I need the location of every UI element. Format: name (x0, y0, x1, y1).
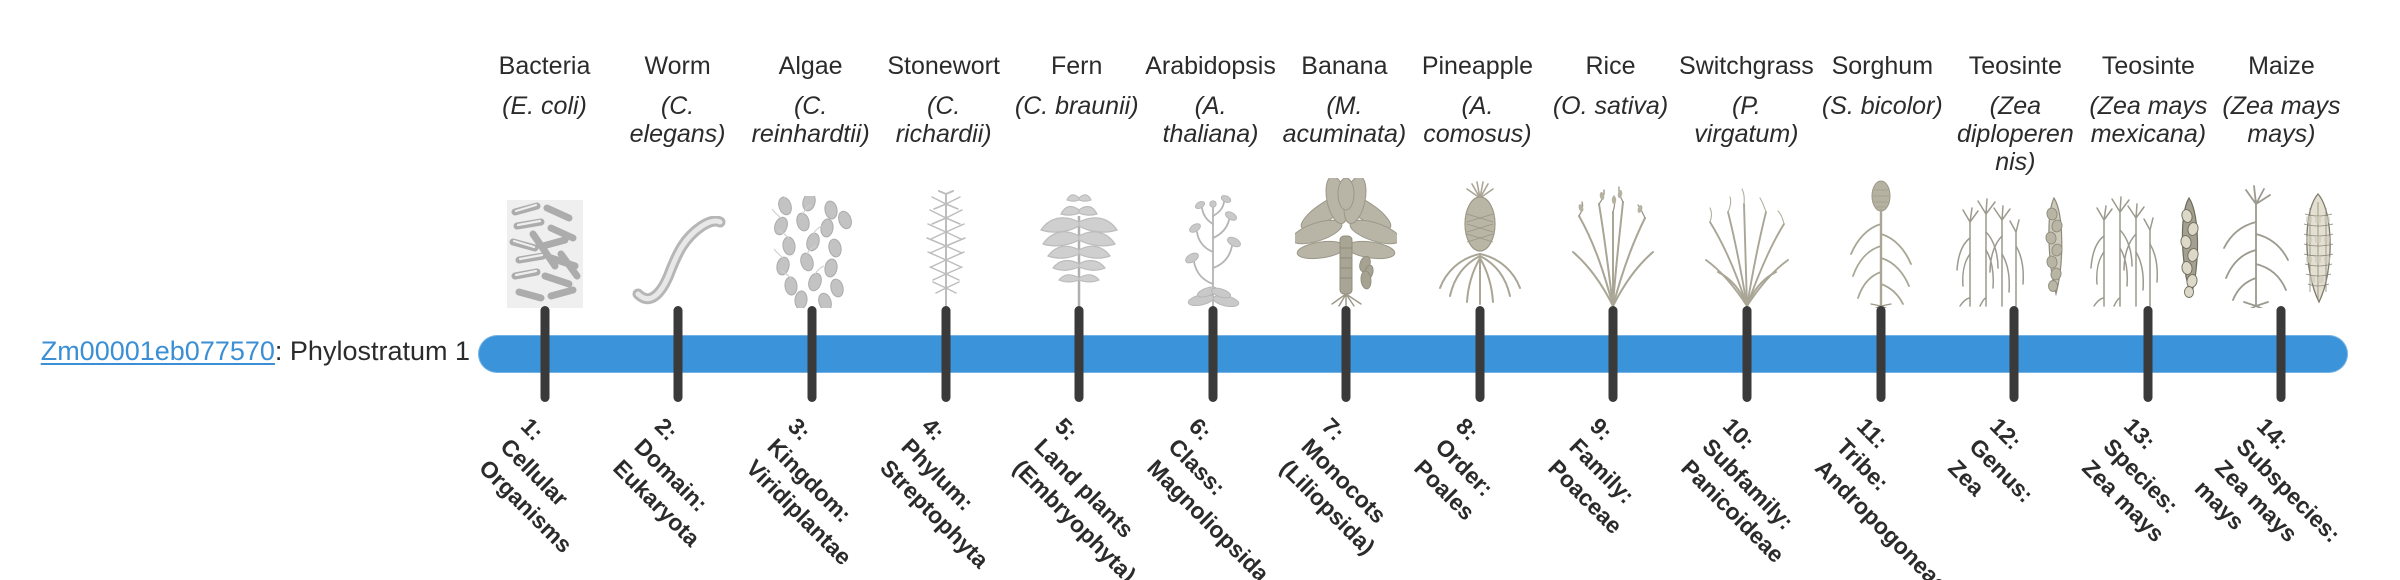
species-scientific-name: (A. thaliana) (1145, 92, 1276, 148)
nematode-worm-icon (612, 168, 746, 308)
teosinte-plant-and-ear-icon (1947, 168, 2081, 308)
tick-mark-1 (540, 306, 549, 402)
species-column-pineapple: Pineapple (A. comosus) (1411, 52, 1544, 170)
species-common-name: Sorghum (1832, 52, 1933, 82)
species-common-name: Stonewort (887, 52, 1000, 82)
tick-mark-13 (2143, 306, 2152, 402)
phylostratum-figure: Zm00001eb077570: Phylostratum 1 Bacteria… (0, 0, 2400, 580)
taxon-label-2: 2: Domain: Eukaryota (606, 412, 747, 553)
tick-mark-4 (941, 306, 950, 402)
species-column-teosinte-diploperennis: Teosinte (Zea diploperennis) (1949, 52, 2082, 170)
organism-illustration-row (478, 168, 2348, 308)
bacteria-rods-icon (478, 168, 612, 308)
tick-mark-3 (807, 306, 816, 402)
species-header-row: Bacteria (E. coli) Worm (C. elegans) Alg… (478, 52, 2348, 170)
species-column-arabidopsis: Arabidopsis (A. thaliana) (1143, 52, 1278, 170)
species-scientific-name: (Zea mays mexicana) (2084, 92, 2213, 148)
species-common-name: Bacteria (499, 52, 591, 82)
gene-id-link[interactable]: Zm00001eb077570 (41, 336, 275, 366)
species-column-rice: Rice (O. sativa) (1544, 52, 1677, 170)
species-common-name: Rice (1585, 52, 1635, 82)
tick-marks-layer (478, 306, 2348, 402)
taxon-label-4: 4: Phylum: Streptophyta (873, 412, 1036, 575)
species-column-stonewort: Stonewort (C. richardii) (877, 52, 1010, 170)
species-column-bacteria: Bacteria (E. coli) (478, 52, 611, 170)
taxon-label-8: 8: Order: Poales (1408, 412, 1523, 527)
species-common-name: Banana (1301, 52, 1387, 82)
taxon-label-9: 9: Family: Poaceae (1541, 412, 1669, 540)
species-common-name: Teosinte (1969, 52, 2062, 82)
arabidopsis-plant-icon (1146, 168, 1280, 308)
species-scientific-name: (P. virgatum) (1679, 92, 1814, 148)
species-scientific-name: (Zea mays mays) (2217, 92, 2346, 148)
taxon-label-10: 10: Subfamily: Panicoideae (1675, 412, 1832, 569)
species-column-fern: Fern (C. braunii) (1010, 52, 1143, 170)
species-scientific-name: (C. braunii) (1015, 92, 1139, 120)
tick-mark-9 (1609, 306, 1618, 402)
species-scientific-name: (O. sativa) (1553, 92, 1668, 120)
species-scientific-name: (Zea diploperennis) (1951, 92, 2080, 176)
species-column-maize: Maize (Zea mays mays) (2215, 52, 2348, 170)
taxon-label-6: 6: Class: Magnoliopsida (1140, 412, 1316, 580)
gene-separator: : (275, 336, 290, 366)
rice-plant-icon (1547, 168, 1681, 308)
tick-mark-8 (1475, 306, 1484, 402)
species-column-teosinte-mexicana: Teosinte (Zea mays mexicana) (2082, 52, 2215, 170)
taxonomy-rank-labels: 1: Cellular Organisms 2: Domain: Eukaryo… (478, 412, 2348, 580)
species-common-name: Worm (644, 52, 710, 82)
species-scientific-name: (C. reinhardtii) (746, 92, 875, 148)
tick-mark-11 (1876, 306, 1885, 402)
species-column-worm: Worm (C. elegans) (611, 52, 744, 170)
pineapple-plant-icon (1413, 168, 1547, 308)
tick-mark-6 (1208, 306, 1217, 402)
tick-mark-12 (2010, 306, 2019, 402)
tick-mark-14 (2277, 306, 2286, 402)
sorghum-plant-icon (1814, 168, 1948, 308)
maize-plant-and-ear-icon (2215, 168, 2349, 308)
species-column-banana: Banana (M. acuminata) (1278, 52, 1411, 170)
tick-mark-10 (1742, 306, 1751, 402)
taxon-label-1: 1: Cellular Organisms (473, 412, 620, 559)
banana-plant-icon (1279, 168, 1413, 308)
gene-phylostratum-label: Zm00001eb077570: Phylostratum 1 (40, 337, 470, 367)
tick-mark-5 (1075, 306, 1084, 402)
species-common-name: Switchgrass (1679, 52, 1814, 82)
fern-frond-icon (1012, 168, 1146, 308)
species-scientific-name: (C. richardii) (879, 92, 1008, 148)
species-column-switchgrass: Switchgrass (P. virgatum) (1677, 52, 1816, 170)
species-scientific-name: (M. acuminata) (1280, 92, 1409, 148)
species-column-sorghum: Sorghum (S. bicolor) (1816, 52, 1949, 170)
species-common-name: Fern (1051, 52, 1102, 82)
taxon-label-14: 14: Subspecies: Zea mays mays (2188, 412, 2367, 580)
species-common-name: Pineapple (1422, 52, 1533, 82)
species-common-name: Teosinte (2102, 52, 2195, 82)
species-column-algae: Algae (C. reinhardtii) (744, 52, 877, 170)
green-algae-cells-icon (745, 168, 879, 308)
species-scientific-name: (E. coli) (502, 92, 587, 120)
teosinte-mexicana-plant-and-ear-icon (2081, 168, 2215, 308)
species-common-name: Algae (779, 52, 843, 82)
stonewort-icon (879, 168, 1013, 308)
taxon-label-5: 5: Land plants (Embryophyta) (1007, 412, 1184, 580)
species-scientific-name: (S. bicolor) (1822, 92, 1943, 120)
species-common-name: Maize (2248, 52, 2315, 82)
tick-mark-7 (1342, 306, 1351, 402)
species-scientific-name: (A. comosus) (1413, 92, 1542, 148)
tick-mark-2 (674, 306, 683, 402)
species-common-name: Arabidopsis (1145, 52, 1276, 82)
taxon-label-13: 13: Species: Zea mays (2075, 412, 2212, 549)
phylostratum-value: Phylostratum 1 (290, 336, 470, 366)
taxon-label-3: 3: Kingdom: Viridiplantae (740, 412, 900, 572)
species-scientific-name: (C. elegans) (613, 92, 742, 148)
switchgrass-icon (1680, 168, 1814, 308)
